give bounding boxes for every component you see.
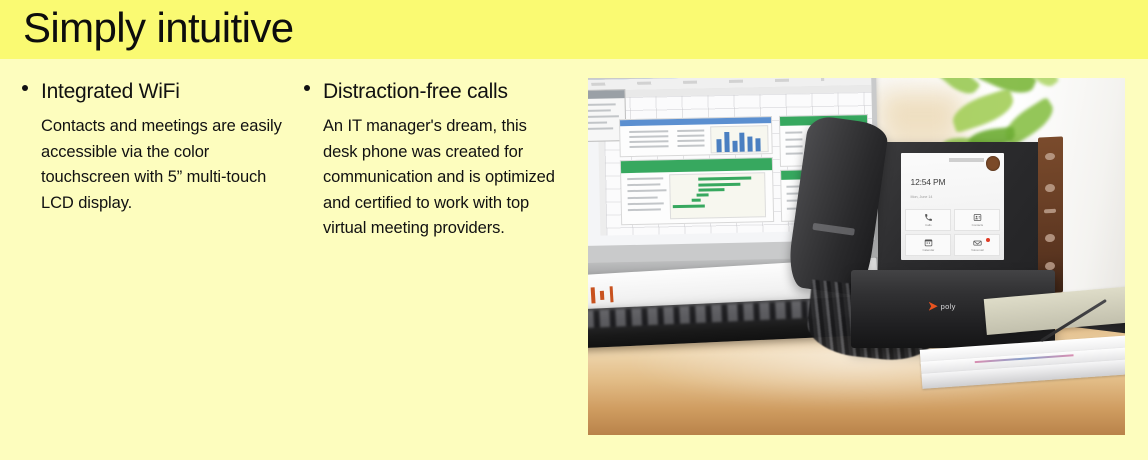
dashboard-panel-tornado [620, 158, 775, 226]
phone-home-tiles: Calls Contacts [905, 209, 1000, 256]
feature-body: Contacts and meetings are easily accessi… [41, 114, 297, 216]
contacts-card-icon [973, 213, 982, 222]
phone-handset-icon [924, 213, 933, 222]
phone-home-button[interactable] [1045, 234, 1055, 242]
voicemail-icon [973, 238, 982, 247]
phone-tile-label: Voicemail [971, 248, 983, 252]
phone-tile-label: Calendar [922, 248, 934, 252]
voicemail-badge [986, 238, 990, 242]
phone-avatar-icon[interactable] [986, 156, 1000, 171]
phone-tile-contacts[interactable]: Contacts [954, 209, 1000, 231]
phone-volume-down-button[interactable] [1044, 209, 1056, 214]
phone-volume-up-button[interactable] [1045, 184, 1055, 192]
phone-tile-label: Calls [925, 223, 931, 227]
bullet-dot-icon [304, 85, 310, 91]
feature-column-1: Integrated WiFi Contacts and meetings ar… [20, 78, 288, 216]
calendar-icon [924, 238, 933, 247]
dashboard-panel-table [619, 116, 773, 158]
poly-mark-icon [929, 302, 938, 311]
product-photo: 12:54 PM Mon, June 14 Calls [588, 78, 1125, 435]
phone-power-button[interactable] [1045, 153, 1055, 161]
bullet-dot-icon [22, 85, 28, 91]
phone-clock: 12:54 PM [911, 177, 946, 187]
page-title: Simply intuitive [23, 2, 294, 54]
phone-status-text [949, 158, 984, 161]
laptop-logo-icon [588, 286, 621, 304]
phone-touchscreen[interactable]: 12:54 PM Mon, June 14 Calls [901, 153, 1004, 260]
phone-tile-calendar[interactable]: Calendar [905, 234, 951, 256]
poly-wordmark: poly [941, 302, 956, 311]
phone-date: Mon, June 14 [911, 195, 933, 199]
phone-tile-calls[interactable]: Calls [905, 209, 951, 231]
feature-item: Integrated WiFi Contacts and meetings ar… [20, 78, 288, 216]
feature-column-2: Distraction-free calls An IT manager's d… [302, 78, 564, 242]
feature-heading: Distraction-free calls [323, 78, 564, 105]
phone-tile-voicemail[interactable]: Voicemail [954, 234, 1000, 256]
feature-item: Distraction-free calls An IT manager's d… [302, 78, 564, 242]
poly-logo: poly [929, 296, 956, 316]
slide-root: Simply intuitive Integrated WiFi Contact… [0, 0, 1148, 460]
phone-body: 12:54 PM Mon, June 14 Calls [878, 142, 1044, 287]
phone-tile-label: Contacts [972, 223, 983, 227]
feature-body: An IT manager's dream, this desk phone w… [323, 114, 555, 242]
feature-heading: Integrated WiFi [41, 78, 288, 105]
